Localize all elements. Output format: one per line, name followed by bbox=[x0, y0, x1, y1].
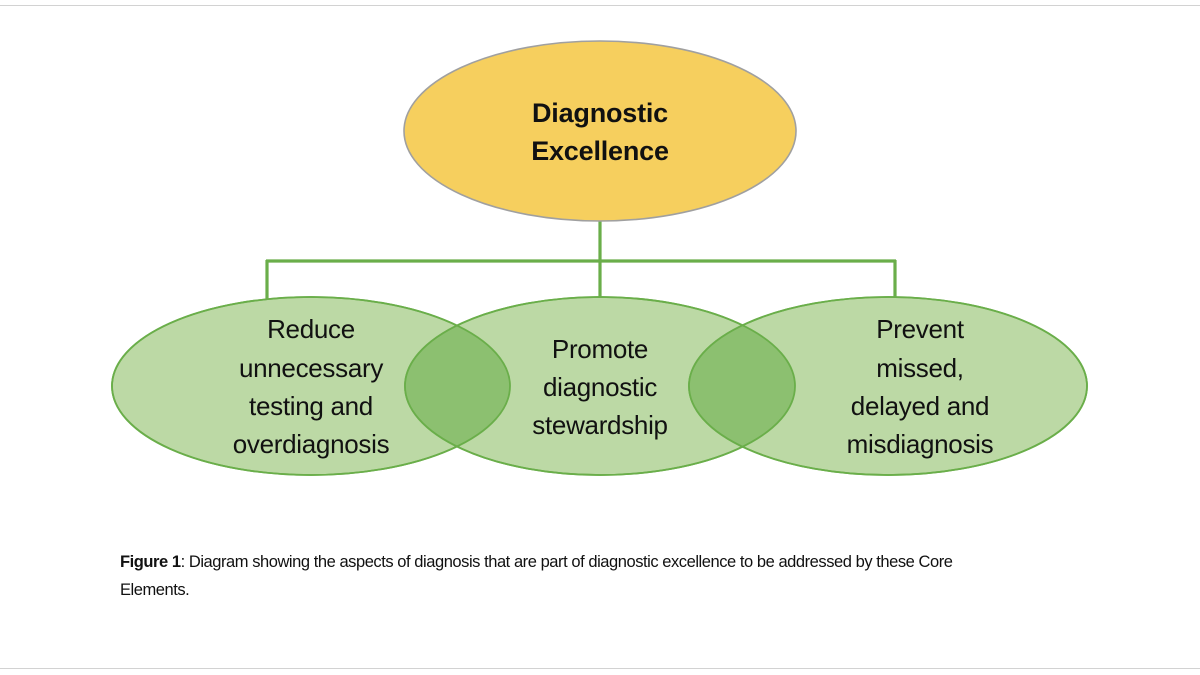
root-node-ellipse[interactable] bbox=[404, 41, 796, 221]
branch-right-line-3: delayed and bbox=[851, 391, 989, 421]
branch-node-middle-label: Promote diagnostic stewardship bbox=[532, 334, 667, 440]
root-node-label-line-2: Excellence bbox=[531, 136, 669, 166]
figure-caption-text: Diagram showing the aspects of diagnosis… bbox=[120, 553, 952, 599]
branch-right-line-2: missed, bbox=[876, 353, 963, 383]
branch-middle-line-2: diagnostic bbox=[543, 372, 657, 402]
root-node[interactable]: Diagnostic Excellence bbox=[404, 41, 796, 221]
diagram-canvas: Diagnostic Excellence Reduce unn bbox=[0, 0, 1200, 520]
branch-right-line-4: misdiagnosis bbox=[847, 429, 994, 459]
figure-caption-separator: : bbox=[181, 553, 189, 571]
branch-middle-line-1: Promote bbox=[552, 334, 648, 364]
frame-bottom-divider bbox=[0, 668, 1200, 669]
branch-left-line-1: Reduce bbox=[267, 314, 355, 344]
figure-caption-label: Figure 1 bbox=[120, 553, 181, 571]
connector-lines bbox=[266, 221, 896, 299]
figure-container: Diagnostic Excellence Reduce unn bbox=[0, 0, 1200, 675]
branch-right-line-1: Prevent bbox=[876, 314, 965, 344]
branch-left-line-2: unnecessary bbox=[239, 353, 383, 383]
figure-caption: Figure 1: Diagram showing the aspects of… bbox=[120, 548, 1020, 605]
branch-middle-line-3: stewardship bbox=[532, 410, 667, 440]
branch-left-line-4: overdiagnosis bbox=[233, 429, 390, 459]
root-node-label-line-1: Diagnostic bbox=[532, 98, 668, 128]
branch-left-line-3: testing and bbox=[249, 391, 373, 421]
